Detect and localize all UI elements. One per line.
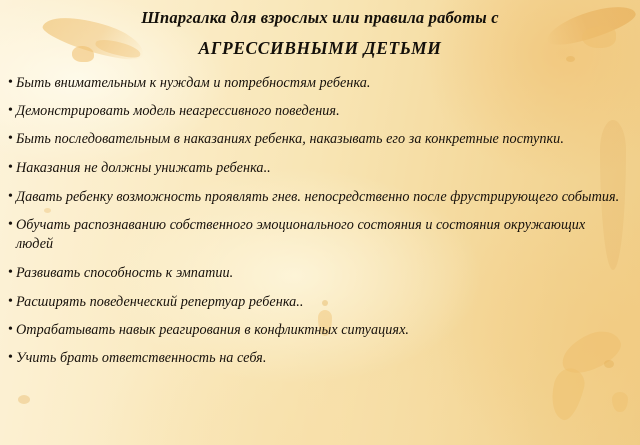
page-title: Шпаргалка для взрослых или правила работ… [0,0,640,60]
list-item: • Учить брать ответственность на себя. [8,349,630,368]
title-line-primary: Шпаргалка для взрослых или правила работ… [0,8,640,29]
list-item-label: Давать ребенку возможность проявлять гне… [16,188,630,207]
list-item-label: Наказания не должны унижать ребенка.. [16,159,630,178]
list-item-label: Развивать способность к эмпатии. [16,264,630,283]
list-item: • Обучать распознаванию собственного эмо… [8,216,630,254]
list-item: • Давать ребенку возможность проявлять г… [8,188,630,207]
list-item-label: Демонстрировать модель неагрессивного по… [16,102,630,121]
bullet-marker-icon: • [8,130,16,149]
list-item-label: Расширять поведенческий репертуар ребенк… [16,293,630,312]
bullet-marker-icon: • [8,349,16,368]
list-item: • Демонстрировать модель неагрессивного … [8,102,630,121]
list-item: • Отрабатывать навык реагирования в конф… [8,321,630,340]
list-item: • Быть последовательным в наказаниях реб… [8,130,630,149]
list-item: • Развивать способность к эмпатии. [8,264,630,283]
bullet-marker-icon: • [8,321,16,340]
list-item-label: Отрабатывать навык реагирования в конфли… [16,321,630,340]
bullet-marker-icon: • [8,159,16,178]
bullet-marker-icon: • [8,293,16,312]
title-line-secondary: АГРЕССИВНЫМИ ДЕТЬМИ [0,38,640,60]
list-item-label: Быть внимательным к нуждам и потребностя… [16,74,630,93]
list-item: • Наказания не должны унижать ребенка.. [8,159,630,178]
rules-list: • Быть внимательным к нуждам и потребнос… [0,60,640,369]
bullet-marker-icon: • [8,216,16,235]
bullet-marker-icon: • [8,264,16,283]
bullet-marker-icon: • [8,188,16,207]
bullet-marker-icon: • [8,102,16,121]
list-item: • Быть внимательным к нуждам и потребнос… [8,74,630,93]
slide-content: Шпаргалка для взрослых или правила работ… [0,0,640,445]
slide-canvas: Шпаргалка для взрослых или правила работ… [0,0,640,445]
list-item-label: Быть последовательным в наказаниях ребен… [16,130,630,149]
list-item-label: Обучать распознаванию собственного эмоци… [16,216,630,254]
bullet-marker-icon: • [8,74,16,93]
list-item-label: Учить брать ответственность на себя. [16,349,630,368]
list-item: • Расширять поведенческий репертуар ребе… [8,293,630,312]
